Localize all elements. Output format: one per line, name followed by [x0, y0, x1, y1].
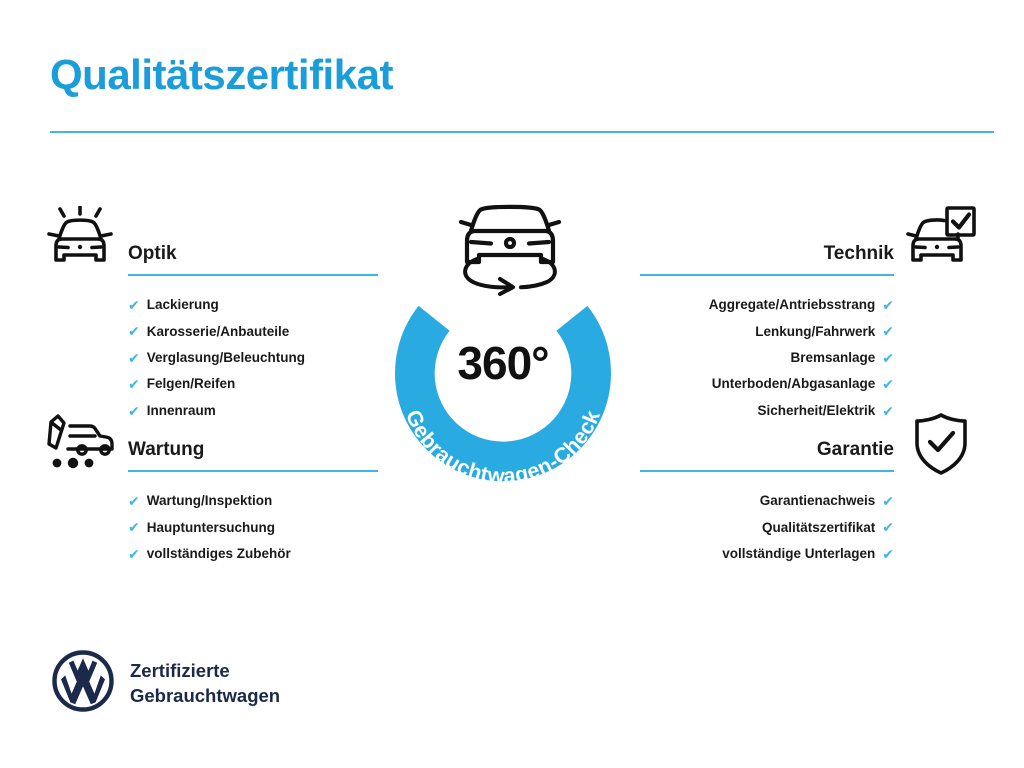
- list-item-label: Karosserie/Anbauteile: [147, 325, 290, 339]
- check-icon: ✔: [128, 547, 140, 561]
- list-item-label: Wartung/Inspektion: [147, 494, 273, 508]
- vw-wordmark-line1: Zertifizierte: [130, 659, 280, 683]
- list-item: ✔Wartung/Inspektion: [128, 488, 428, 514]
- section-heading-optik: Optik: [128, 244, 428, 265]
- check-icon: ✔: [882, 351, 894, 365]
- car-front-checkbox-icon: [906, 206, 976, 273]
- check-icon: ✔: [882, 298, 894, 312]
- check-icon: ✔: [882, 494, 894, 508]
- list-item: Unterboden/Abgasanlage✔: [596, 371, 894, 397]
- check-icon: ✔: [128, 494, 140, 508]
- list-item: vollständige Unterlagen✔: [596, 541, 894, 567]
- list-item-label: Unterboden/Abgasanlage: [712, 377, 876, 391]
- list-item: ✔Hauptuntersuchung: [128, 514, 428, 540]
- list-item-label: Qualitätszertifikat: [762, 521, 875, 535]
- list-item-label: Sicherheit/Elektrik: [757, 404, 875, 418]
- list-item: Aggregate/Antriebsstrang✔: [596, 292, 894, 318]
- section-technik: Technik Aggregate/Antriebsstrang✔ Lenkun…: [596, 244, 894, 424]
- check-icon: ✔: [128, 377, 140, 391]
- check-icon: ✔: [882, 404, 894, 418]
- list-item-label: Bremsanlage: [790, 351, 875, 365]
- vw-certified-lockup: Zertifizierte Gebrauchtwagen: [52, 650, 280, 717]
- check-icon: ✔: [882, 324, 894, 338]
- section-list-technik: Aggregate/Antriebsstrang✔ Lenkung/Fahrwe…: [596, 292, 894, 424]
- list-item-label: Verglasung/Beleuchtung: [147, 351, 305, 365]
- list-item: ✔vollständiges Zubehör: [128, 541, 428, 567]
- list-item: ✔Karosserie/Anbauteile: [128, 318, 428, 344]
- list-item-label: Aggregate/Antriebsstrang: [709, 298, 876, 312]
- list-item: ✔Innenraum: [128, 397, 428, 423]
- section-list-optik: ✔Lackierung ✔Karosserie/Anbauteile ✔Verg…: [128, 292, 428, 424]
- list-item-label: Innenraum: [147, 404, 216, 418]
- list-item-label: vollständige Unterlagen: [722, 547, 875, 561]
- check-icon: ✔: [882, 547, 894, 561]
- list-item: ✔Lackierung: [128, 292, 428, 318]
- section-divider-technik: [640, 274, 894, 276]
- list-item-label: Lackierung: [147, 298, 219, 312]
- check-icon: ✔: [882, 377, 894, 391]
- section-divider-garantie: [640, 470, 894, 472]
- check-icon: ✔: [128, 298, 140, 312]
- vw-wordmark: Zertifizierte Gebrauchtwagen: [130, 659, 280, 708]
- list-item-label: vollständiges Zubehör: [147, 547, 291, 561]
- section-list-wartung: ✔Wartung/Inspektion ✔Hauptuntersuchung ✔…: [128, 488, 428, 567]
- section-heading-technik: Technik: [596, 244, 894, 265]
- list-item-label: Garantienachweis: [760, 494, 876, 508]
- list-item: Qualitätszertifikat✔: [596, 514, 894, 540]
- list-item: ✔Verglasung/Beleuchtung: [128, 345, 428, 371]
- section-divider-optik: [128, 274, 378, 276]
- vw-logo: [52, 650, 114, 717]
- list-item: ✔Felgen/Reifen: [128, 371, 428, 397]
- check-icon: ✔: [128, 520, 140, 534]
- check-icon: ✔: [128, 324, 140, 338]
- section-list-garantie: Garantienachweis✔ Qualitätszertifikat✔ v…: [596, 488, 894, 567]
- title-divider: [50, 131, 994, 133]
- list-item: Bremsanlage✔: [596, 345, 894, 371]
- pen-car-service-icon: [46, 414, 116, 477]
- check-icon: ✔: [128, 351, 140, 365]
- section-garantie: Garantie Garantienachweis✔ Qualitätszert…: [596, 440, 894, 567]
- page-title: Qualitätszertifikat: [50, 52, 393, 98]
- section-optik: Optik ✔Lackierung ✔Karosserie/Anbauteile…: [128, 244, 428, 424]
- list-item: Lenkung/Fahrwerk✔: [596, 318, 894, 344]
- car-front-shine-icon: [46, 206, 114, 273]
- list-item: Sicherheit/Elektrik✔: [596, 397, 894, 423]
- section-heading-garantie: Garantie: [596, 440, 894, 461]
- section-divider-wartung: [128, 470, 378, 472]
- list-item-label: Hauptuntersuchung: [147, 521, 275, 535]
- section-heading-wartung: Wartung: [128, 440, 428, 461]
- list-item: Garantienachweis✔: [596, 488, 894, 514]
- car-front-rotate-icon: [447, 198, 573, 300]
- section-wartung: Wartung ✔Wartung/Inspektion ✔Hauptunters…: [128, 440, 428, 567]
- check-icon: ✔: [882, 520, 894, 534]
- list-item-label: Lenkung/Fahrwerk: [755, 325, 875, 339]
- shield-check-icon: [912, 412, 970, 481]
- vw-wordmark-line2: Gebrauchtwagen: [130, 684, 280, 708]
- check-icon: ✔: [128, 404, 140, 418]
- list-item-label: Felgen/Reifen: [147, 377, 236, 391]
